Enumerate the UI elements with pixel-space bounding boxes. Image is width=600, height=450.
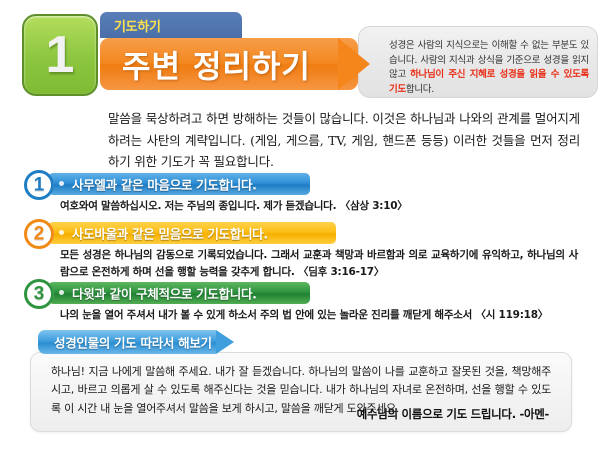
section-3-circle: 3 <box>24 279 54 309</box>
prayer-section-label: 성경인물의 기도 따라서 해보기 <box>54 333 212 352</box>
section-3-bullet-icon <box>59 290 64 295</box>
header-callout-box: 성경은 사람의 지식으로는 이해할 수 없는 부분도 있습니다. 사람의 지식과… <box>358 26 598 98</box>
section-3-body: 나의 눈을 열어 주셔서 내가 볼 수 있게 하소서 주의 법 안에 있는 놀라… <box>60 307 578 324</box>
section-3-number: 3 <box>24 285 54 304</box>
worksheet-page: 1 기도하기 주변 정리하기 성경은 사람의 지식으로는 이해할 수 없는 부분… <box>0 0 600 450</box>
prayer-section-tab: 성경인물의 기도 따라서 해보기 <box>38 330 216 354</box>
section-1-circle: 1 <box>24 170 54 200</box>
section-1-banner-label: 사무엘과 같은 마음으로 기도합니다. <box>72 175 257 194</box>
section-3-banner-label: 다윗과 같이 구체적으로 기도합니다. <box>72 284 257 303</box>
header-category-label: 기도하기 <box>114 16 161 35</box>
section-2-circle: 2 <box>24 219 54 249</box>
lesson-number-text: 1 <box>24 29 96 81</box>
lesson-number-badge: 1 <box>22 14 98 96</box>
prayer-closing: 예수님의 이름으로 기도 드립니다. -아멘- <box>357 406 549 422</box>
header-category-tab: 기도하기 <box>100 12 242 38</box>
intro-paragraph: 말씀을 묵상하려고 하면 방해하는 것들이 많습니다. 이것은 하나님과 나와의… <box>108 108 580 173</box>
page-title-bar: 주변 정리하기 <box>100 38 358 90</box>
header-callout-text: 성경은 사람의 지식으로는 이해할 수 없는 부분도 있습니다. 사람의 지식과… <box>389 39 589 98</box>
callout-arrow-icon <box>338 38 370 90</box>
section-2-banner-label: 사도바울과 같은 믿음으로 기도합니다. <box>72 224 268 243</box>
page-title: 주변 정리하기 <box>122 42 311 87</box>
callout-tail: 합니다. <box>406 84 434 95</box>
section-2-banner: 사도바울과 같은 믿음으로 기도합니다. <box>48 222 336 244</box>
section-1-number: 1 <box>24 176 54 195</box>
section-2-number: 2 <box>24 225 54 244</box>
section-2-bullet-icon <box>59 230 64 235</box>
prayer-box: 하나님! 지금 나에게 말씀해 주세요. 내가 잘 듣겠습니다. 하나님의 말씀… <box>30 352 572 432</box>
section-1-banner: 사무엘과 같은 마음으로 기도합니다. <box>48 173 310 195</box>
page-header: 1 기도하기 주변 정리하기 성경은 사람의 지식으로는 이해할 수 없는 부분… <box>0 0 600 104</box>
section-1-bullet-icon <box>59 181 64 186</box>
section-1-body: 여호와여 말씀하십시오. 저는 주님의 종입니다. 제가 듣겠습니다. 〈삼상 … <box>60 198 520 215</box>
section-2-body: 모든 성경은 하나님의 감동으로 기록되었습니다. 그래서 교훈과 책망과 바르… <box>60 247 578 281</box>
section-3-banner: 다윗과 같이 구체적으로 기도합니다. <box>48 282 310 304</box>
